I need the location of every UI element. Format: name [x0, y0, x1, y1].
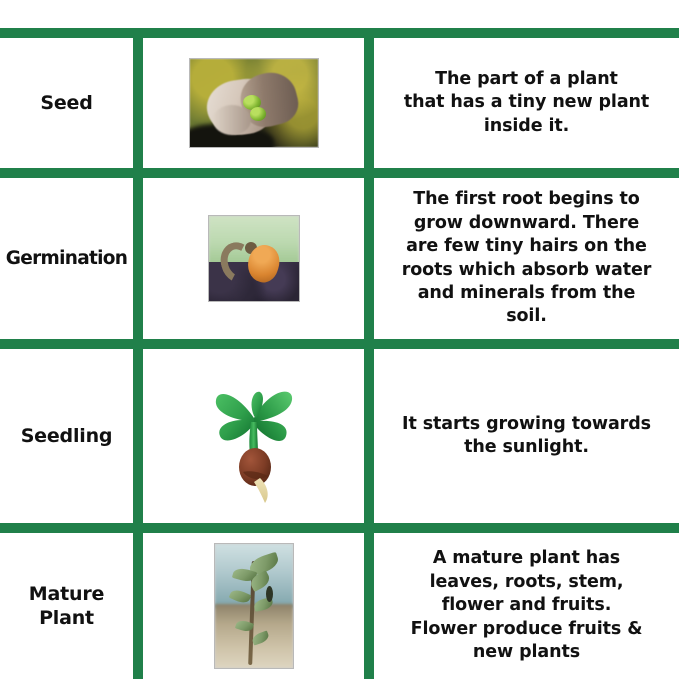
seedling-illustration	[202, 366, 306, 506]
leaf-left	[215, 394, 253, 440]
stage-description-germination: The first root begins to grow downward. …	[402, 188, 652, 329]
table-row: Seedling	[0, 349, 133, 523]
grid-rule-col1-row4	[133, 533, 143, 679]
table-row: Mature Plant	[0, 533, 133, 679]
table-row: Germination	[0, 178, 133, 339]
grid-rule-top	[0, 28, 679, 38]
seed-in-hand-photo	[189, 58, 319, 148]
illustration-cell-germination	[143, 178, 364, 339]
grid-rule-row3-row4	[0, 523, 679, 533]
illustration-cell-seedling	[143, 349, 364, 523]
stage-label-seedling: Seedling	[21, 424, 113, 448]
grid-rule-col1-row2	[133, 178, 143, 339]
hand-thumb-shape	[213, 105, 251, 135]
stage-description-seedling: It starts growing towards the sunlight.	[402, 413, 651, 460]
grid-rule-col2-row3	[364, 349, 374, 523]
illustration-cell-mature-plant	[143, 533, 364, 679]
life-cycle-table: Seed The part of a plant that has a tiny…	[0, 0, 679, 679]
stage-description-seed: The part of a plant that has a tiny new …	[404, 68, 649, 138]
grid-rule-row2-row3	[0, 339, 679, 349]
illustration-cell-seed	[143, 38, 364, 168]
stage-description-mature-plant: A mature plant has leaves, roots, stem, …	[411, 547, 643, 664]
grid-rule-row1-row2	[0, 168, 679, 178]
mature-plant-photo	[214, 543, 294, 669]
stage-label-seed: Seed	[40, 91, 92, 115]
grid-rule-col2-row2	[364, 178, 374, 339]
grid-rule-col1-row1	[133, 38, 143, 168]
stage-label-germination: Germination	[6, 247, 128, 271]
grid-rule-col2-row1	[364, 38, 374, 168]
grid-rule-col2-row4	[364, 533, 374, 679]
grid-rule-col1-row3	[133, 349, 143, 523]
stage-label-mature-plant: Mature Plant	[2, 582, 131, 631]
root-tail	[254, 478, 268, 503]
description-cell-germination: The first root begins to grow downward. …	[374, 178, 679, 339]
plant-life-cycle-table-page: Seed The part of a plant that has a tiny…	[0, 0, 679, 679]
description-cell-seedling: It starts growing towards the sunlight.	[374, 349, 679, 523]
germinating-seed-photo	[208, 215, 300, 302]
seed-body	[239, 448, 271, 486]
description-cell-mature-plant: A mature plant has leaves, roots, stem, …	[374, 533, 679, 679]
description-cell-seed: The part of a plant that has a tiny new …	[374, 38, 679, 168]
table-row: Seed	[0, 38, 133, 168]
